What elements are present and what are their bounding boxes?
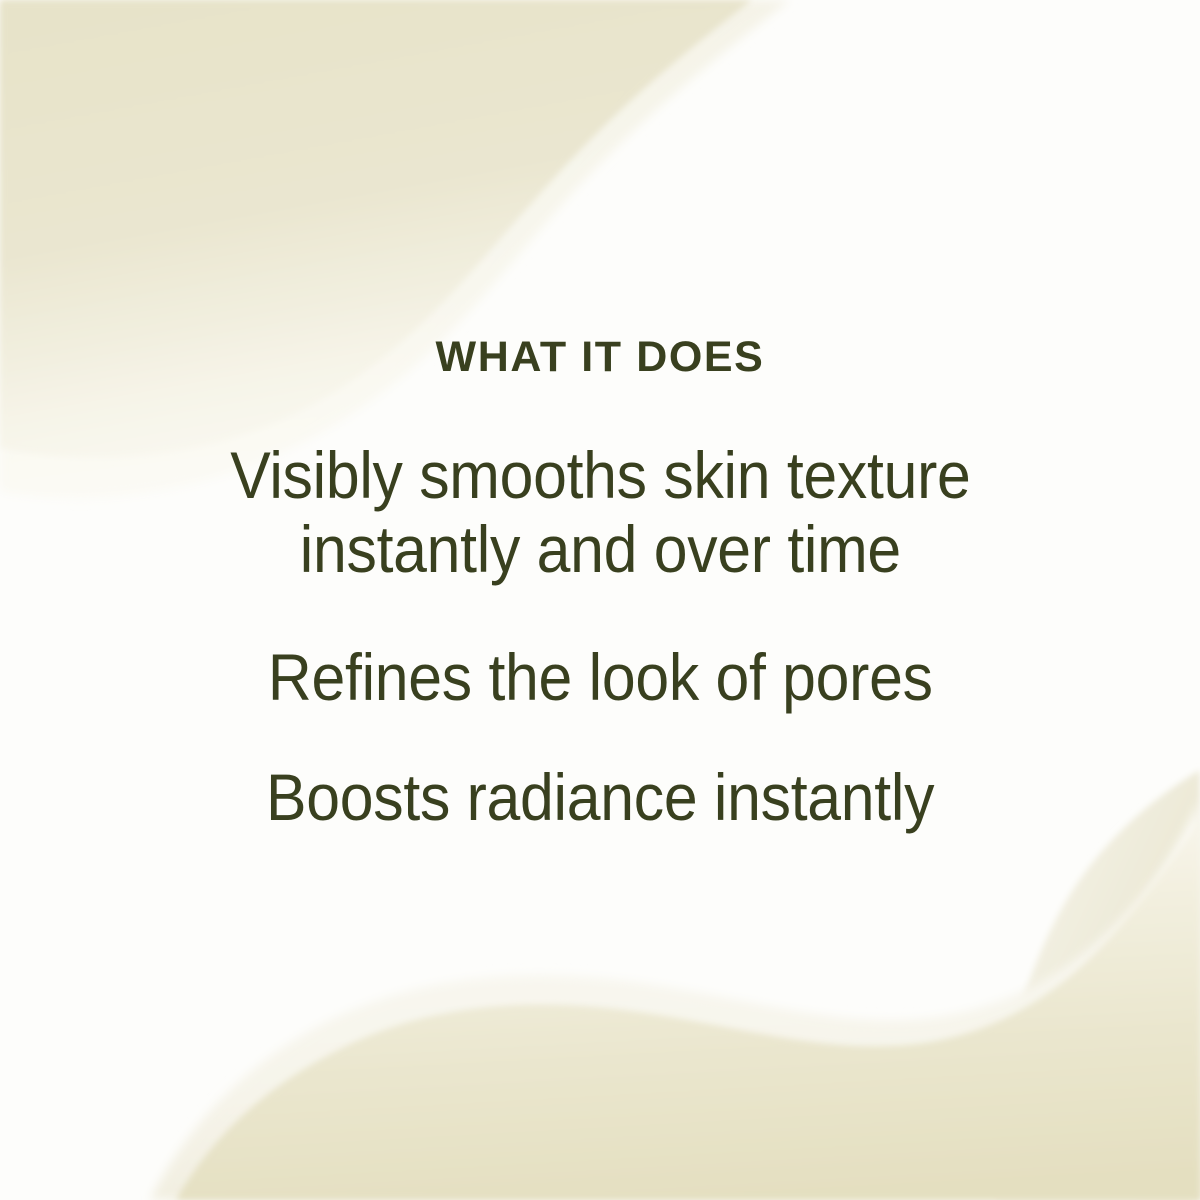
page-title: WHAT IT DOES <box>436 336 765 379</box>
benefit-refines-pores: Refines the look of pores <box>268 641 933 715</box>
benefit-boosts-radiance: Boosts radiance instantly <box>266 761 934 835</box>
product-benefits-card: WHAT IT DOES Visibly smooths skin textur… <box>0 0 1200 1200</box>
benefit-smooths-texture: Visibly smooths skin texture instantly a… <box>230 439 970 587</box>
content-column: WHAT IT DOES Visibly smooths skin textur… <box>0 0 1200 1200</box>
